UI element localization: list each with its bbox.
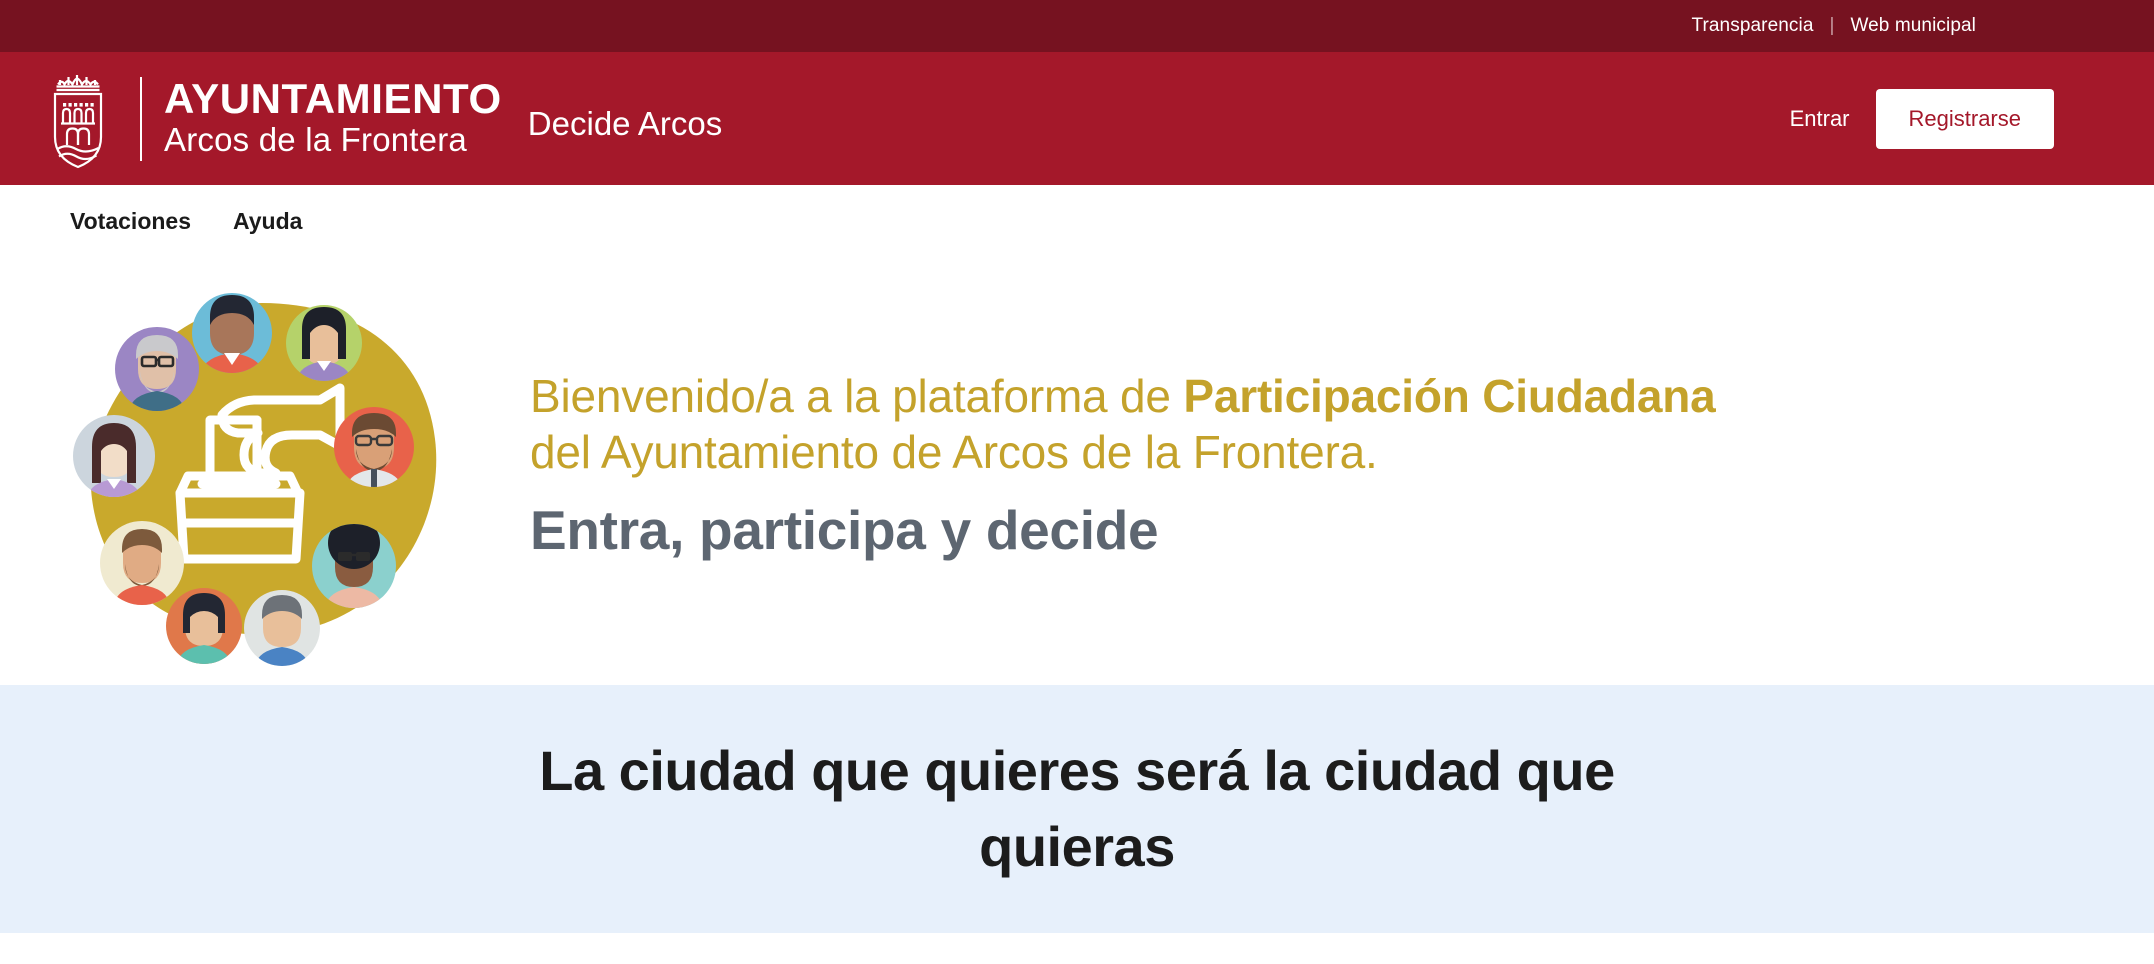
site-header: AYUNTAMIENTO Arcos de la Frontera Decide… <box>0 52 2154 185</box>
login-link[interactable]: Entrar <box>1790 106 1850 132</box>
nav-item-ayuda[interactable]: Ayuda <box>233 208 302 235</box>
topbar-link-transparencia[interactable]: Transparencia <box>1691 15 1813 37</box>
topbar-separator: | <box>1814 15 1851 37</box>
top-utility-links: Transparencia | Web municipal <box>1691 15 1976 37</box>
avatar-bottom <box>244 590 320 669</box>
slogan-banner: La ciudad que quieres será la ciudad que… <box>0 685 2154 933</box>
brand-subtitle: Arcos de la Frontera <box>164 121 502 160</box>
hero-section: Bienvenido/a a la plataforma de Particip… <box>0 257 2154 685</box>
header-actions: Entrar Registrarse <box>1790 89 2054 149</box>
brand-divider <box>140 77 142 161</box>
hero-line-1-prefix: Bienvenido/a a la plataforma de <box>530 370 1183 422</box>
avatar-bottom-left <box>166 588 242 667</box>
site-name: Decide Arcos <box>528 95 722 143</box>
register-button[interactable]: Registrarse <box>1876 89 2054 149</box>
brand-text: AYUNTAMIENTO Arcos de la Frontera <box>164 77 502 160</box>
nav-item-votaciones[interactable]: Votaciones <box>70 208 191 235</box>
hero-line-1: Bienvenido/a a la plataforma de Particip… <box>530 373 1716 419</box>
ballot-box-people-illustration <box>52 271 472 671</box>
arcos-coat-of-arms-icon <box>46 65 118 173</box>
slogan-title: La ciudad que quieres será la ciudad que… <box>437 733 1717 884</box>
hero-copy: Bienvenido/a a la plataforma de Particip… <box>530 373 1716 570</box>
brand-title: AYUNTAMIENTO <box>164 77 502 121</box>
hero-line-1-emphasis: Participación Ciudadana <box>1183 370 1715 422</box>
hero-line-3: Entra, participa y decide <box>530 503 1716 558</box>
brand-logo[interactable]: AYUNTAMIENTO Arcos de la Frontera <box>46 65 502 173</box>
main-navigation: Votaciones Ayuda <box>0 185 2154 257</box>
top-utility-bar: Transparencia | Web municipal <box>0 0 2154 52</box>
topbar-link-web-municipal[interactable]: Web municipal <box>1850 15 1976 37</box>
hero-line-2: del Ayuntamiento de Arcos de la Frontera… <box>530 429 1716 475</box>
